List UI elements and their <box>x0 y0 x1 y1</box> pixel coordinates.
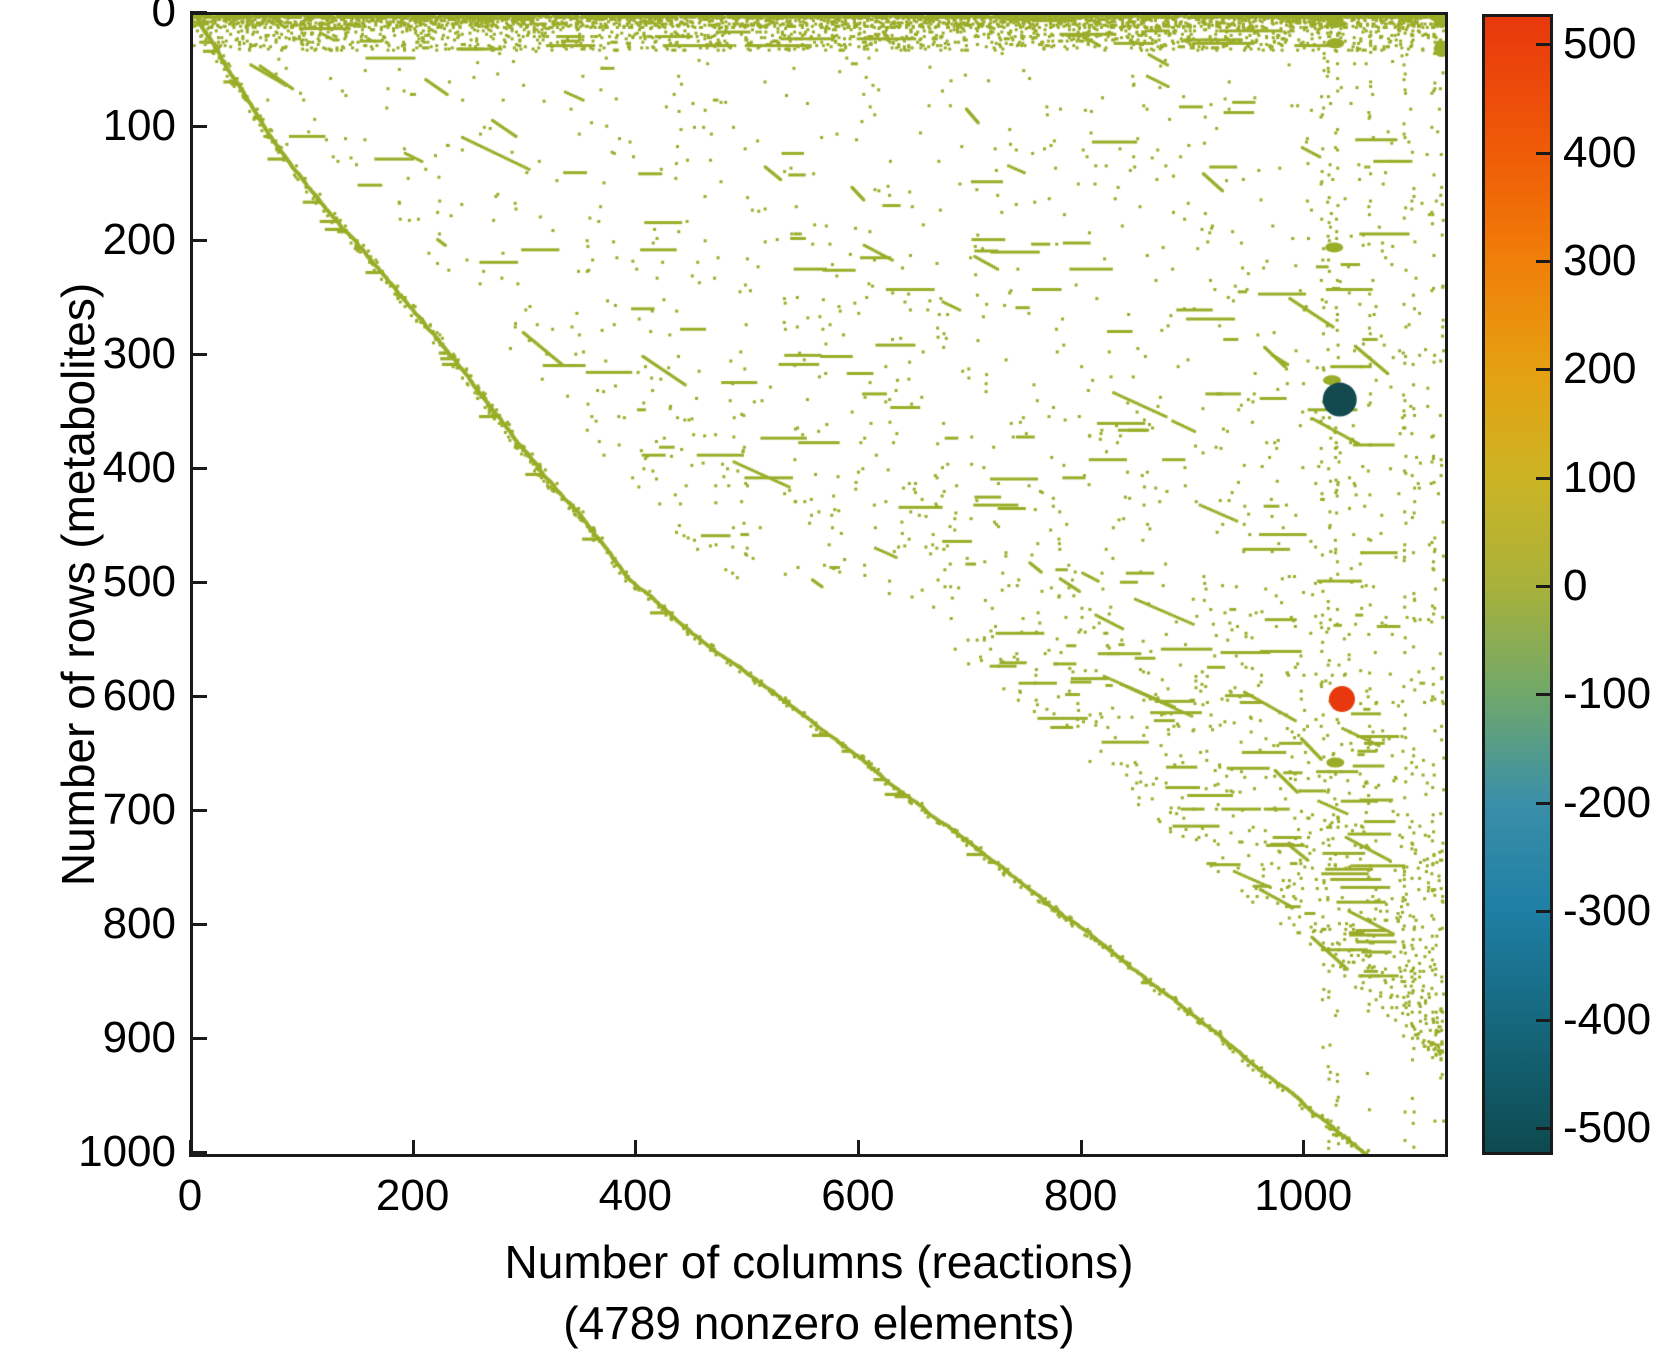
x-tick-label-0: 0 <box>178 1172 202 1220</box>
y-tick-800 <box>190 923 207 926</box>
sparsity-scatter-canvas <box>193 15 1445 1154</box>
colorbar-tick-neg100 <box>1536 693 1553 696</box>
colorbar-tick-300 <box>1536 260 1553 263</box>
y-tick-400 <box>190 467 207 470</box>
colorbar-label-0: 0 <box>1563 564 1587 608</box>
y-tick-label-200: 200 <box>103 218 176 262</box>
x-tick-label-600: 600 <box>821 1172 894 1220</box>
y-tick-label-300: 300 <box>103 332 176 376</box>
colorbar-tick-400 <box>1536 152 1553 155</box>
y-tick-label-700: 700 <box>103 788 176 832</box>
y-tick-500 <box>190 581 207 584</box>
x-tick-1000 <box>1302 1140 1305 1157</box>
colorbar-label-neg200: -200 <box>1563 781 1651 825</box>
y-tick-1000 <box>190 1151 207 1154</box>
x-tick-label-800: 800 <box>1044 1172 1117 1220</box>
y-tick-700 <box>190 809 207 812</box>
colorbar-label-100: 100 <box>1563 456 1636 500</box>
y-tick-label-900: 900 <box>103 1016 176 1060</box>
y-tick-label-100: 100 <box>103 104 176 148</box>
y-tick-label-800: 800 <box>103 902 176 946</box>
y-tick-300 <box>190 353 207 356</box>
colorbar-label-neg500: -500 <box>1563 1106 1651 1150</box>
colorbar-tick-neg500 <box>1536 1127 1553 1130</box>
colorbar-tick-neg300 <box>1536 910 1553 913</box>
colorbar-tick-0 <box>1536 585 1553 588</box>
colorbar-label-300: 300 <box>1563 239 1636 283</box>
colorbar-tick-100 <box>1536 477 1553 480</box>
x-tick-800 <box>1080 1140 1083 1157</box>
y-tick-100 <box>190 125 207 128</box>
x-tick-400 <box>634 1140 637 1157</box>
colorbar-tick-200 <box>1536 368 1553 371</box>
colorbar-label-400: 400 <box>1563 131 1636 175</box>
colorbar-label-neg100: -100 <box>1563 672 1651 716</box>
x-axis-subtitle-nonzero-count: (4789 nonzero elements) <box>190 1294 1448 1352</box>
colorbar-label-200: 200 <box>1563 347 1636 391</box>
y-tick-label-0: 0 <box>152 0 176 34</box>
x-tick-label-1000: 1000 <box>1254 1172 1352 1220</box>
matrix-sparsity-plot-area <box>190 12 1448 1157</box>
colorbar-label-neg400: -400 <box>1563 998 1651 1042</box>
y-tick-label-500: 500 <box>103 560 176 604</box>
x-tick-label-400: 400 <box>599 1172 672 1220</box>
y-tick-label-600: 600 <box>103 674 176 718</box>
y-tick-label-400: 400 <box>103 446 176 490</box>
x-tick-label-200: 200 <box>376 1172 449 1220</box>
x-axis-title: Number of columns (reactions) <box>190 1232 1448 1292</box>
y-tick-600 <box>190 695 207 698</box>
y-tick-0 <box>190 11 207 14</box>
colorbar-label-neg300: -300 <box>1563 889 1651 933</box>
y-tick-900 <box>190 1037 207 1040</box>
colorbar-tick-neg200 <box>1536 802 1553 805</box>
x-tick-0 <box>189 1140 192 1157</box>
y-axis-title: Number of rows (metabolites) <box>52 12 104 1157</box>
x-tick-600 <box>857 1140 860 1157</box>
spy-plot-figure: 01002003004005006007008009001000 0200400… <box>0 0 1653 1365</box>
colorbar-tick-500 <box>1536 43 1553 46</box>
y-tick-200 <box>190 239 207 242</box>
colorbar-label-500: 500 <box>1563 22 1636 66</box>
x-tick-200 <box>412 1140 415 1157</box>
colorbar-tick-neg400 <box>1536 1019 1553 1022</box>
